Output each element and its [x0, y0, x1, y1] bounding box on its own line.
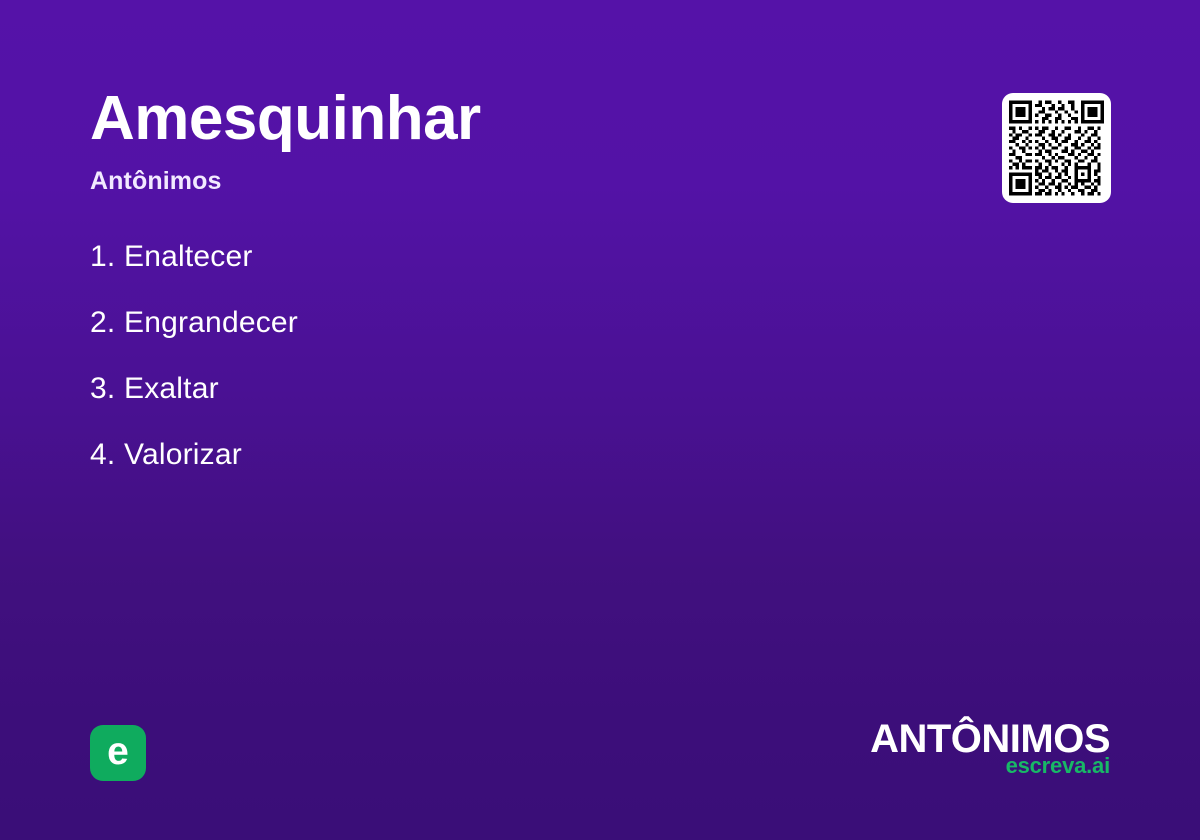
qr-code-card[interactable] [1002, 93, 1111, 203]
headline-block: Amesquinhar Antônimos [90, 88, 910, 194]
list-item-index: 2. [90, 306, 124, 340]
list-item: 1. Enaltecer [90, 240, 910, 306]
list-item-label: Valorizar [124, 438, 242, 472]
list-item-index: 4. [90, 438, 124, 472]
list-item-label: Enaltecer [124, 240, 253, 274]
brand-lockup: ANTÔNIMOS escreva.ai [870, 718, 1110, 777]
antonym-list: 1. Enaltecer 2. Engrandecer 3. Exaltar 4… [90, 240, 910, 504]
list-item: 4. Valorizar [90, 438, 910, 504]
list-item-label: Exaltar [124, 372, 219, 406]
app-badge-letter: e [107, 732, 129, 771]
qr-code-icon [1009, 100, 1104, 196]
page-title: Amesquinhar [90, 88, 910, 150]
list-item-label: Engrandecer [124, 306, 298, 340]
list-item-index: 3. [90, 372, 124, 406]
list-item: 3. Exaltar [90, 372, 910, 438]
escreva-app-icon[interactable]: e [90, 725, 146, 781]
section-label: Antônimos [90, 169, 910, 194]
list-item-index: 1. [90, 240, 124, 274]
antonym-word-card: Amesquinhar Antônimos 1. Enaltecer 2. En… [0, 0, 1200, 840]
list-item: 2. Engrandecer [90, 306, 910, 372]
